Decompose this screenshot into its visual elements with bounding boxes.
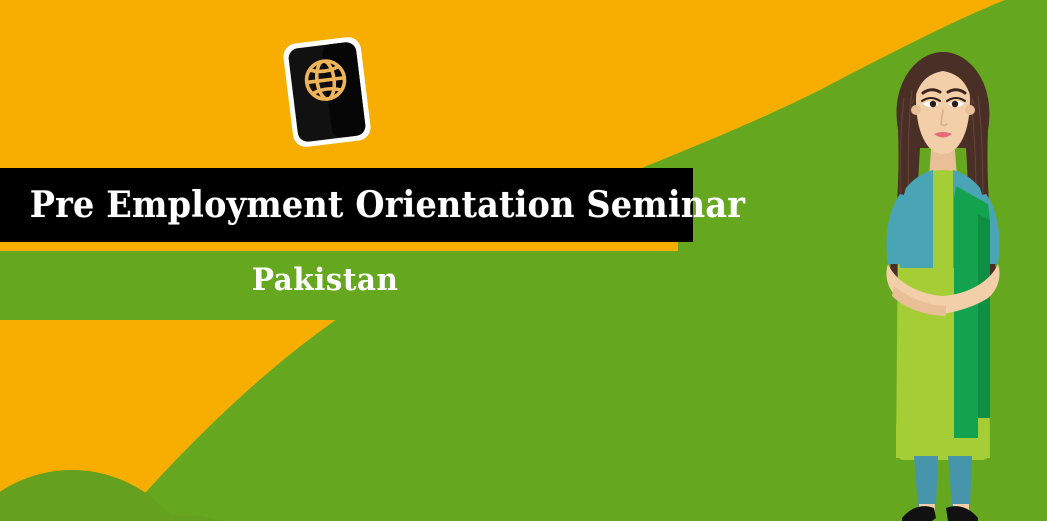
title-underline-strip <box>0 242 678 251</box>
title-bar: Pre Employment Orientation Seminar <box>0 168 693 242</box>
trouser-left <box>914 456 938 508</box>
seminar-banner: Pre Employment Orientation Seminar Pakis… <box>0 0 1047 521</box>
ear-left <box>911 105 921 115</box>
blouse-neckline <box>933 170 953 219</box>
sleeve-left <box>887 194 917 264</box>
page-title: Pre Employment Orientation Seminar <box>0 184 745 226</box>
trouser-right <box>948 456 972 508</box>
ear-right <box>965 105 975 115</box>
shoe-left <box>902 506 936 521</box>
shoe-right <box>946 506 978 521</box>
passport-icon <box>279 33 375 151</box>
scarf-shade <box>978 214 990 418</box>
woman-illustration <box>838 38 1047 521</box>
